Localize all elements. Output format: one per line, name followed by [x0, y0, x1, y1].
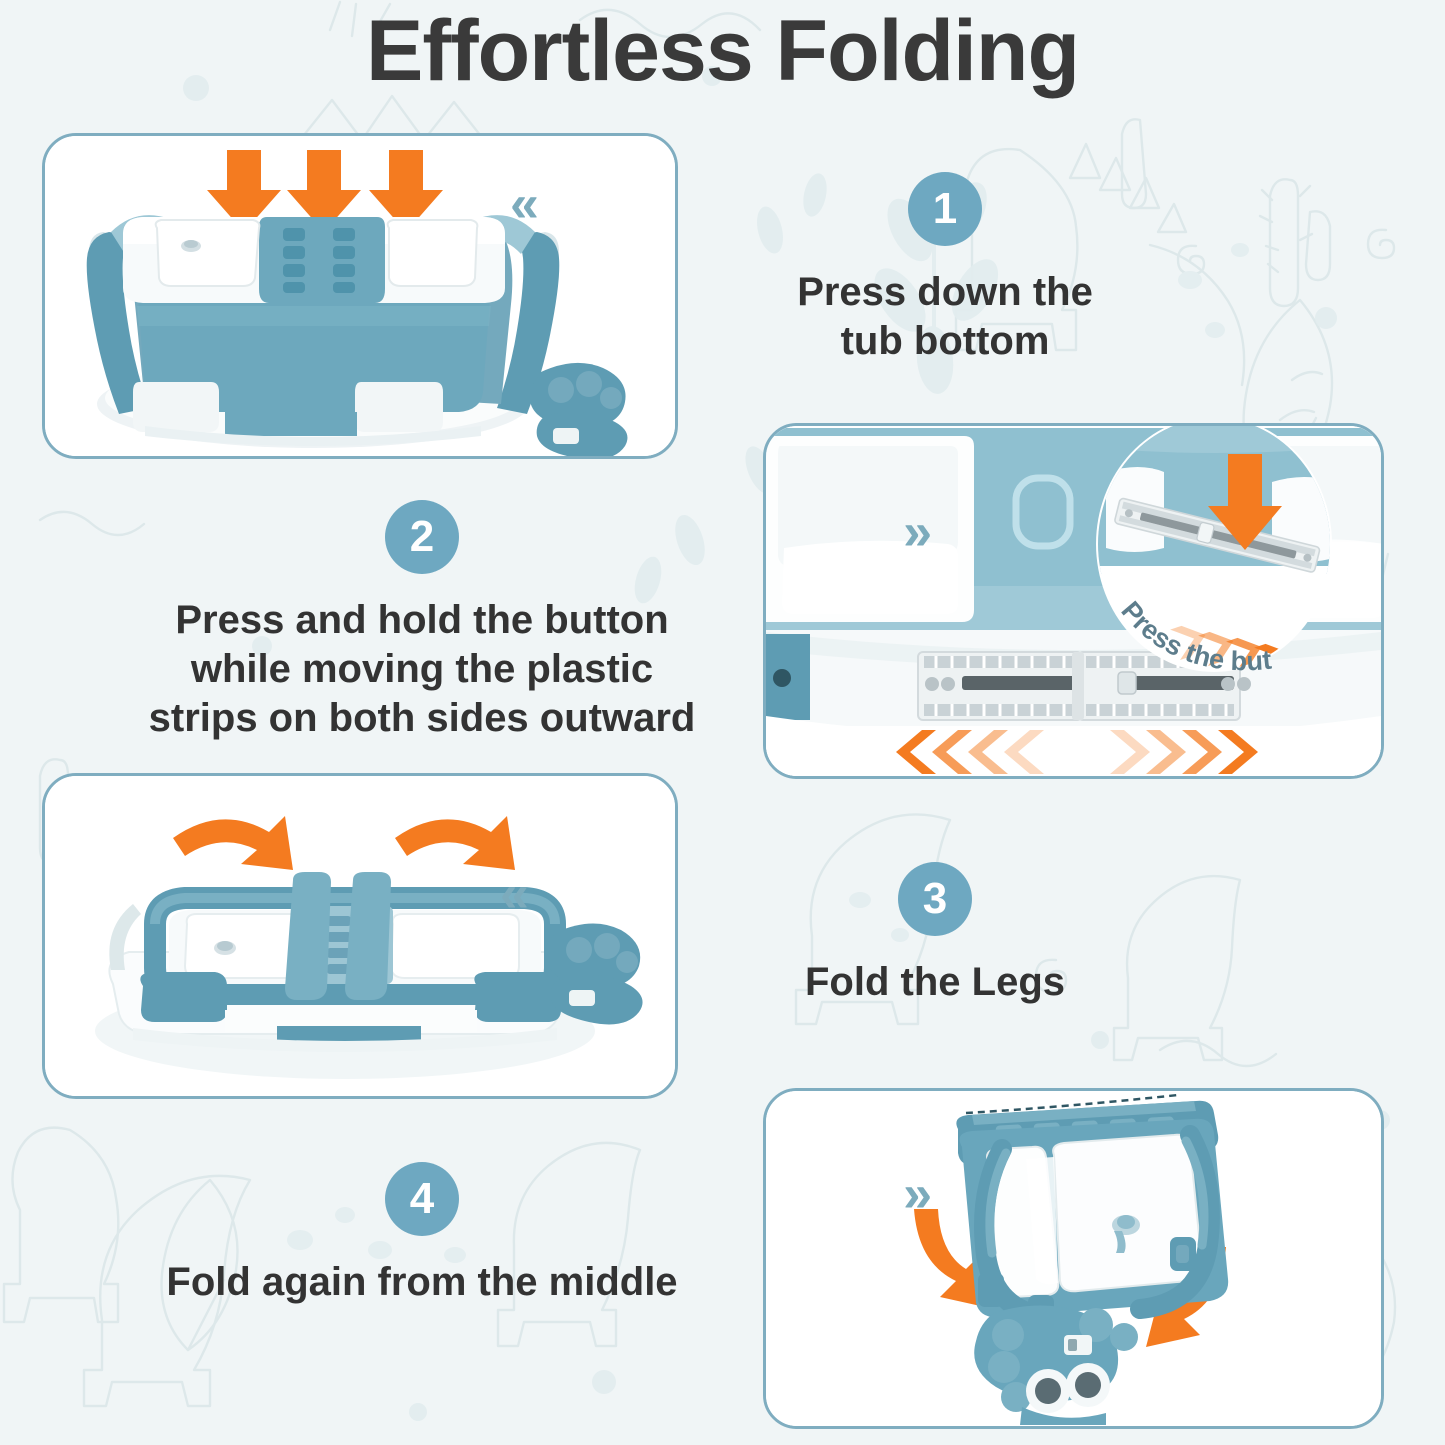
double-chevron-left-icon: « [500, 868, 529, 920]
folded-tub-standing-illustration [766, 1091, 1381, 1426]
step-2-text: Press and hold the button while moving t… [112, 596, 732, 742]
folding-tub-upright-illustration [45, 136, 675, 456]
double-chevron-right-icon: » [903, 1168, 932, 1220]
step-1-line-2: tub bottom [710, 317, 1180, 366]
step-2-line-2: while moving the plastic [112, 645, 732, 694]
illustration-card-step-3 [42, 773, 678, 1099]
step-3-badge-row: « 3 [700, 862, 1170, 936]
step-2-number-badge: 2 [385, 500, 459, 574]
step-3-text: Fold the Legs [700, 958, 1170, 1007]
plastic-strips-closeup-illustration: Press the button [766, 426, 1381, 776]
step-4-text: Fold again from the middle [112, 1258, 732, 1307]
step-1-text: Press down the tub bottom [710, 268, 1180, 366]
step-4-number-badge: 4 [385, 1162, 459, 1236]
step-1-badge-row: « 1 [710, 172, 1180, 246]
double-chevron-right-icon: » [903, 506, 932, 558]
step-3-line-1: Fold the Legs [700, 958, 1170, 1007]
infographic-page: Effortless Folding [0, 0, 1445, 1445]
step-1-line-1: Press down the [710, 268, 1180, 317]
step-3: « 3 Fold the Legs [700, 862, 1170, 1007]
illustration-card-step-4 [763, 1088, 1384, 1429]
step-2-badge-row: 2 » [112, 500, 732, 574]
flattened-tub-illustration [45, 776, 675, 1096]
step-2-line-1: Press and hold the button [112, 596, 732, 645]
step-1: « 1 Press down the tub bottom [710, 172, 1180, 366]
step-3-number-badge: 3 [898, 862, 972, 936]
step-4: 4 » Fold again from the middle [112, 1162, 732, 1307]
step-4-line-1: Fold again from the middle [112, 1258, 732, 1307]
illustration-card-step-2: Press the button [763, 423, 1384, 779]
step-2: 2 » Press and hold the button while movi… [112, 500, 732, 742]
page-title: Effortless Folding [0, 6, 1445, 96]
double-chevron-left-icon: « [510, 178, 539, 230]
step-4-badge-row: 4 » [112, 1162, 732, 1236]
illustration-card-step-1 [42, 133, 678, 459]
step-1-number-badge: 1 [908, 172, 982, 246]
step-2-line-3: strips on both sides outward [112, 694, 732, 743]
